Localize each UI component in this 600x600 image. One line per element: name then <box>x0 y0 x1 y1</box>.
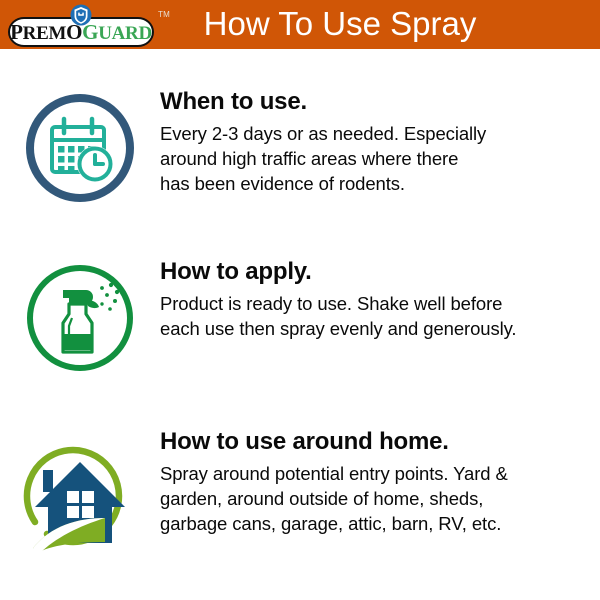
section-how-to-use-around-home: How to use around home. Spray around pot… <box>0 428 600 565</box>
icon-column <box>0 428 160 565</box>
section-title: How to use around home. <box>160 428 588 456</box>
page-title: How To Use Spray <box>0 0 600 49</box>
section-title: How to apply. <box>160 258 588 286</box>
section-when-to-use: When to use. Every 2-3 days or as needed… <box>0 88 600 211</box>
calendar-clock-icon <box>22 90 138 211</box>
body-line: garden, around outside of home, sheds, <box>160 486 588 511</box>
body-line: has been evidence of rodents. <box>160 171 588 196</box>
house-leaf-icon <box>17 430 143 565</box>
spray-bottle-icon <box>22 260 138 381</box>
section-how-to-apply: How to apply. Product is ready to use. S… <box>0 258 600 381</box>
icon-column <box>0 88 160 211</box>
section-body: Product is ready to use. Shake well befo… <box>160 291 588 341</box>
icon-column <box>0 258 160 381</box>
body-line: around high traffic areas where there <box>160 146 588 171</box>
section-title: When to use. <box>160 88 588 116</box>
body-line: Product is ready to use. Shake well befo… <box>160 291 588 316</box>
section-body: Spray around potential entry points. Yar… <box>160 461 588 536</box>
body-line: garbage cans, garage, attic, barn, RV, e… <box>160 511 588 536</box>
section-body: Every 2-3 days or as needed. Especially … <box>160 121 588 196</box>
page-header: PREMOGUARD TM How To Use Spray <box>0 0 600 49</box>
body-line: Spray around potential entry points. Yar… <box>160 461 588 486</box>
text-column: How to use around home. Spray around pot… <box>160 428 600 536</box>
body-line: Every 2-3 days or as needed. Especially <box>160 121 588 146</box>
text-column: When to use. Every 2-3 days or as needed… <box>160 88 600 196</box>
body-line: each use then spray evenly and generousl… <box>160 316 588 341</box>
text-column: How to apply. Product is ready to use. S… <box>160 258 600 341</box>
